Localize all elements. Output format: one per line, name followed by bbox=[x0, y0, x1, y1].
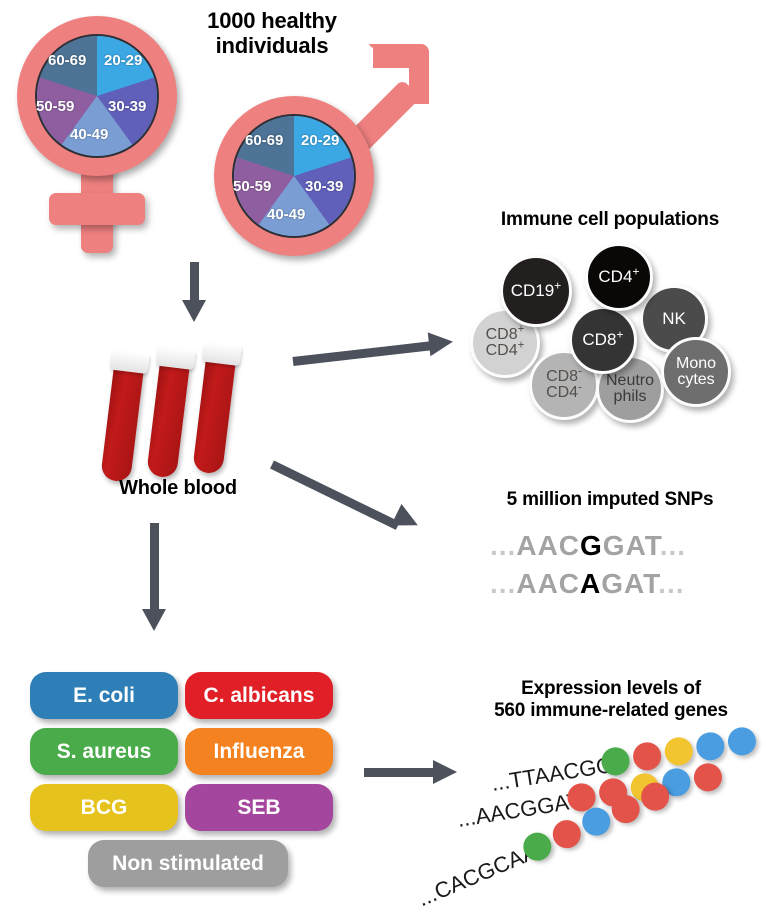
rna-bead bbox=[726, 725, 758, 757]
expression-heading-line1: Expression levels of bbox=[455, 678, 767, 700]
cell-line1: Neutro bbox=[606, 373, 654, 389]
immune-cell-cd4: CD4+ bbox=[585, 243, 653, 311]
rna-bead bbox=[663, 735, 695, 767]
stimulus-seb[interactable]: SEB bbox=[185, 784, 333, 831]
cell-line2: CD4- bbox=[546, 385, 582, 401]
immune-cell-cd8-cd4-pos: CD8+ CD4+ bbox=[470, 308, 540, 378]
female-symbol: 20-29 30-39 40-49 50-59 60-69 bbox=[8, 8, 208, 258]
pie-label-30-39: 30-39 bbox=[108, 98, 146, 115]
blood-tubes bbox=[112, 340, 282, 480]
cell-line2: CD4+ bbox=[486, 343, 525, 359]
female-crossbar bbox=[49, 193, 145, 225]
snp-tail: ... bbox=[660, 530, 686, 561]
cell-line1: CD4+ bbox=[598, 268, 639, 285]
stimulus-s-aureus[interactable]: S. aureus bbox=[30, 728, 178, 775]
tube-body bbox=[100, 362, 144, 483]
snp-heading: 5 million imputed SNPs bbox=[460, 489, 760, 511]
rna-strands: ...TTAACGG ...AACGGAT ...CACGCAA bbox=[440, 735, 771, 915]
immune-cell-cd19: CD19+ bbox=[500, 255, 572, 327]
snp-post: GAT bbox=[603, 530, 660, 561]
immune-cell-cd8-cd4-neg: CD8- CD4- bbox=[529, 350, 599, 420]
rna-bead bbox=[631, 740, 663, 772]
snp-variant: A bbox=[580, 568, 601, 599]
cell-line1: NK bbox=[662, 310, 686, 327]
whole-blood-label: Whole blood bbox=[88, 477, 268, 500]
tube-body bbox=[192, 354, 236, 475]
immune-cell-monocytes: Mono cytes bbox=[661, 337, 731, 407]
expression-heading: Expression levels of 560 immune-related … bbox=[455, 678, 767, 722]
cell-line1: CD8+ bbox=[486, 327, 525, 343]
pie-label-60-69: 60-69 bbox=[48, 52, 86, 69]
snp-lead: ... bbox=[490, 530, 516, 561]
expression-heading-line2: 560 immune-related genes bbox=[455, 700, 767, 722]
immune-cell-nk: NK bbox=[640, 285, 708, 353]
pie-label-40-49: 40-49 bbox=[70, 126, 108, 143]
pie-label-20-29: 20-29 bbox=[301, 132, 339, 149]
stimulus-bcg[interactable]: BCG bbox=[30, 784, 178, 831]
immune-heading: Immune cell populations bbox=[455, 209, 765, 231]
snp-post: GAT bbox=[601, 568, 658, 599]
snp-lead: ... bbox=[490, 568, 516, 599]
pie-label-30-39: 30-39 bbox=[305, 178, 343, 195]
pie-label-50-59: 50-59 bbox=[233, 178, 271, 195]
pie-label-20-29: 20-29 bbox=[104, 52, 142, 69]
snp-sequences: ...AACGGAT... ...AACAGAT... bbox=[490, 530, 750, 620]
immune-cell-cd8: CD8+ bbox=[569, 306, 637, 374]
immune-cell-neutrophils: Neutro phils bbox=[596, 355, 664, 423]
pie-label-60-69: 60-69 bbox=[245, 132, 283, 149]
stimulus-e-coli[interactable]: E. coli bbox=[30, 672, 178, 719]
stimuli-panel: E. coli C. albicans S. aureus Influenza … bbox=[30, 672, 350, 897]
snp-row: ...AACGGAT... bbox=[490, 530, 686, 562]
cell-line1: CD8+ bbox=[582, 331, 623, 348]
snp-variant: G bbox=[580, 530, 603, 561]
cell-line2: phils bbox=[606, 389, 654, 405]
rna-sequence-label: ...CACGCAA bbox=[414, 839, 541, 913]
cell-line1: Mono bbox=[676, 356, 716, 372]
stimulus-non-stimulated[interactable]: Non stimulated bbox=[88, 840, 288, 887]
rna-bead bbox=[694, 730, 726, 762]
cell-line1: CD8- bbox=[546, 369, 582, 385]
male-symbol: 20-29 30-39 40-49 50-59 60-69 bbox=[205, 30, 435, 260]
stimulus-c-albicans[interactable]: C. albicans bbox=[185, 672, 333, 719]
cell-line1: CD19+ bbox=[511, 282, 562, 299]
tube-body bbox=[146, 358, 190, 479]
snp-row: ...AACAGAT... bbox=[490, 568, 685, 600]
diagram-canvas: 1000 healthy individuals 20-29 30-39 40-… bbox=[0, 0, 771, 922]
snp-tail: ... bbox=[658, 568, 684, 599]
cell-line2: cytes bbox=[676, 372, 716, 388]
stimulus-influenza[interactable]: Influenza bbox=[185, 728, 333, 775]
pie-label-40-49: 40-49 bbox=[267, 206, 305, 223]
pie-label-50-59: 50-59 bbox=[36, 98, 74, 115]
snp-pre: AAC bbox=[516, 530, 580, 561]
snp-pre: AAC bbox=[516, 568, 580, 599]
